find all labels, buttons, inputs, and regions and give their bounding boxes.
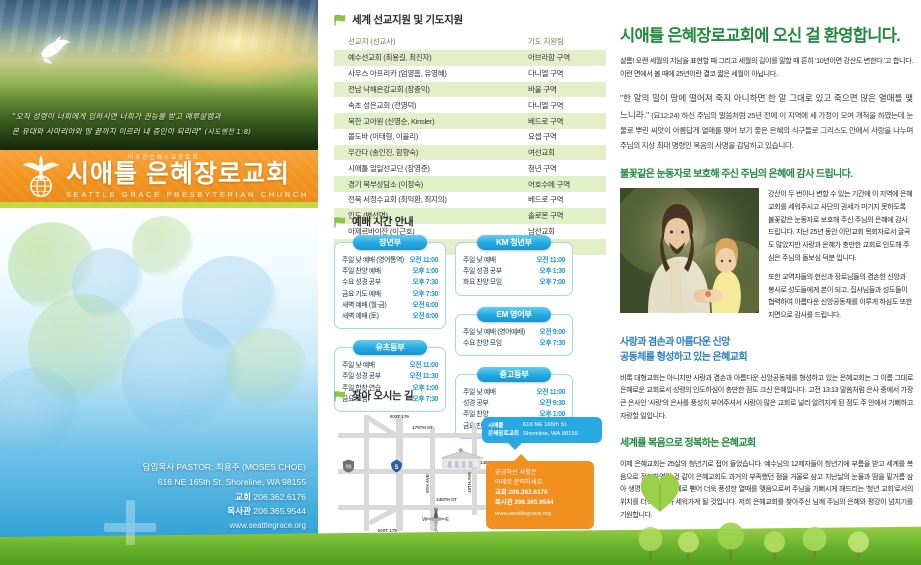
- worship-time: 오후 7:30: [412, 277, 438, 288]
- table-row: 전북 서정수교회 (최익환, 최지의)베드로 구역: [334, 192, 606, 208]
- worship-label: 화요 찬양 모임: [463, 277, 502, 288]
- church-building-icon: [438, 447, 486, 471]
- verse-line-2: 온 유대와 사마리아와 땅 끝까지 이르러 내 증인이 되리라" (사도행전 1…: [12, 125, 306, 140]
- worship-group-badge: KM 청년부: [477, 235, 551, 250]
- interstate-5-shield-icon: 5: [390, 459, 403, 473]
- parsonage-phone-label: 목사관: [227, 506, 251, 516]
- callout-church-name: 시애틀 은혜장로교회: [488, 422, 519, 438]
- tree-icon: [762, 529, 788, 561]
- worship-label: 금요 기도 예배: [342, 289, 381, 300]
- church-phone-line: 교회 206.362.6176: [56, 490, 306, 505]
- flag-icon: [334, 14, 347, 26]
- worship-time: 오후 1:00: [412, 266, 438, 277]
- map-section: 찾아 오시는 길 EXIT 176 175TH ST 148TH ST 145T…: [334, 388, 610, 541]
- worship-time: 오전 6:00: [412, 300, 438, 311]
- worship-row: 화요 찬양 모임오후 7:00: [463, 277, 565, 288]
- mission-field-cell: 몰도바 (이태형, 이율리): [334, 129, 520, 145]
- mission-field-cell: 예수선교회 (최용길, 최진자): [334, 50, 520, 66]
- worship-label: 수요 찬양 모임: [463, 338, 502, 349]
- worship-row: 주일 성경 공부오전 11:30: [342, 371, 438, 382]
- church-address-callout: 시애틀 은혜장로교회 616 NE 165th St. Shoreline, W…: [482, 417, 602, 443]
- worship-group-badge: EM 영어부: [477, 307, 551, 322]
- table-row: 전남 낙해은강교회 (장충익)바울 구역: [334, 82, 606, 98]
- lime-divider: [0, 202, 318, 208]
- church-phone-value: 206.362.6176: [253, 492, 306, 502]
- worship-time: 오후 7:30: [539, 338, 565, 349]
- worship-heading: 예배 시간 안내: [334, 214, 606, 229]
- paragraph-1: 강산이 두 번이나 변할 수 있는 기간에 이 지역에 은혜 교회를 세워주시고…: [768, 188, 913, 264]
- worship-row: 새벽 예배 (토)오전 8:00: [342, 311, 438, 322]
- road-i5-left: [364, 415, 369, 531]
- map-label-5th-ave: 5TH AVE: [426, 474, 431, 493]
- inquiry-line-1: 궁금하신 사항은: [495, 468, 585, 478]
- mission-field-cell: 전북 서정수교회 (최익환, 최지의): [334, 192, 520, 208]
- paragraph-2: 또한 교역자들의 헌신과 장로님들의 겸손한 신앙과 봉사로 성도들에게 본이 …: [768, 271, 913, 322]
- mission-prayer-cell: 청년 구역: [520, 160, 606, 176]
- worship-row: 주일 낮 예배오전 11:00: [342, 360, 438, 371]
- mission-prayer-cell: 아브라함 구역: [520, 50, 606, 66]
- worship-label: 새벽 예배 (월-금): [342, 300, 386, 311]
- worship-row: 새벽 예배 (월-금)오전 6:00: [342, 300, 438, 311]
- worship-row: 주일 성경 공부오후 1:30: [463, 266, 565, 277]
- website-line[interactable]: www.seattlegrace.org: [56, 519, 306, 533]
- mission-prayer-cell: 어호수에 구역: [520, 176, 606, 192]
- worship-label: 주일 낮 예배: [463, 255, 496, 266]
- mission-prayer-cell: 다니엘 구역: [520, 66, 606, 82]
- worship-group-badge: 중고등부: [477, 367, 551, 382]
- worship-label: 주일 낮 예배 (영어예배): [463, 327, 525, 338]
- mission-prayer-cell: 여선교회: [520, 145, 606, 161]
- callout-address-line-1: 616 NE 165th St.: [523, 421, 578, 430]
- welcome-title: 시애틀 은혜장로교회에 오신 걸 환영합니다.: [620, 22, 913, 46]
- worship-time: 오후 1:30: [539, 266, 565, 277]
- worship-label: 주일 찬양 예배: [342, 266, 381, 277]
- callout-name-line-2: 은혜장로교회: [488, 430, 519, 438]
- jesus-photo-row: 강산이 두 번이나 변할 수 있는 기간에 이 지역에 은혜 교회를 세워주시고…: [620, 188, 913, 328]
- worship-time: 오전 8:00: [412, 311, 438, 322]
- mission-prayer-cell: 베드로 구역: [520, 192, 606, 208]
- mission-title: 세계 선교지원 및 기도지원: [352, 12, 463, 27]
- mission-field-cell: 속초 성은교회 (전영덕): [334, 97, 520, 113]
- map-pin-icon: [334, 390, 347, 402]
- mission-field-cell: 전남 낙해은강교회 (장충익): [334, 82, 520, 98]
- worship-group-body: 주일 낮 예배 (영어통역)오전 11:00주일 찬양 예배오후 1:00수요 …: [334, 242, 446, 329]
- tree-icon: [676, 529, 702, 561]
- svg-text:N: N: [434, 507, 438, 513]
- mission-prayer-cell: 요셉 구역: [520, 129, 606, 145]
- worship-row: 수요 성경 공부오후 7:30: [342, 277, 438, 288]
- worship-time: 오후 7:00: [539, 277, 565, 288]
- tree-icon: [714, 521, 748, 561]
- church-phone-label: 교회: [235, 492, 251, 502]
- worship-time: 오전 11:00: [409, 255, 438, 266]
- jesus-with-child-photo: [620, 188, 759, 313]
- welcome-intro: 샬롬! 오랜 세월의 지남을 표현할 때 그리고 세월의 길이를 말할 때 흔히…: [620, 55, 913, 80]
- map-label-175th: 175TH ST: [412, 426, 433, 431]
- tree-icon: [846, 529, 872, 561]
- mission-field-cell: 북한 고아원 (신영순, Kinsler): [334, 113, 520, 129]
- worship-group-badge: 유초등부: [353, 340, 427, 355]
- worship-time: 오후 7:30: [412, 289, 438, 300]
- table-row: 속초 성은교회 (전영덕)다니엘 구역: [334, 97, 606, 113]
- table-row: 경기 북부상담소 (이정숙)어호수에 구역: [334, 176, 606, 192]
- worship-row: 주일 낮 예배 (영어예배)오전 9:00: [463, 327, 565, 338]
- denomination-label: 미주한인예수교장로회: [128, 153, 309, 161]
- table-row: 시애틀 일일선교단 (장영준)청년 구역: [334, 160, 606, 176]
- mission-field-cell: 경기 북부상담소 (이정숙): [334, 176, 520, 192]
- inquiry-parsonage-phone: 목사관 206.365.9544: [495, 498, 585, 508]
- worship-row: 주일 낮 예배오전 11:00: [463, 255, 565, 266]
- mission-table-header: 선교지 (선교사) 기도 지원팀: [334, 33, 606, 50]
- svg-text:5: 5: [395, 464, 399, 471]
- map-label-15th-ave: 15TH AVE: [468, 472, 473, 493]
- road-175th: [338, 433, 504, 438]
- center-panel: 세계 선교지원 및 기도지원 선교지 (선교사) 기도 지원팀 예수선교회 (최…: [330, 0, 610, 545]
- callout-address-line-2: Shoreline, WA 98155: [523, 430, 578, 439]
- clock-icon: [334, 216, 347, 228]
- map-heading: 찾아 오시는 길: [334, 388, 610, 403]
- parsonage-phone-value: 206.365.9544: [253, 506, 306, 516]
- right-panel: 시애틀 은혜장로교회에 오신 걸 환영합니다. 샬롬! 오랜 세월의 지남을 표…: [612, 0, 921, 545]
- worship-label: 수요 성경 공부: [342, 277, 381, 288]
- heart-leaf-icon: [634, 467, 686, 515]
- worship-group: 장년부주일 낮 예배 (영어통역)오전 11:00주일 찬양 예배오후 1:00…: [334, 235, 446, 329]
- church-name-korean: 시애틀 은혜장로교회: [66, 162, 309, 187]
- jesus-illustration: [620, 188, 759, 313]
- worship-row: 수요 찬양 모임오후 7:30: [463, 338, 565, 349]
- subtitle-2-line-2: 공동체를 형성하고 있는 은혜교회: [620, 348, 913, 363]
- mission-prayer-cell: 다니엘 구역: [520, 97, 606, 113]
- dove-icon: [36, 30, 76, 72]
- logo-text-block: 미주한인예수교장로회 시애틀 은혜장로교회 SEATTLE GRACE PRES…: [66, 153, 309, 199]
- church-crest-icon: [18, 153, 64, 199]
- table-row: 예수선교회 (최용길, 최진자)아브라함 구역: [334, 50, 606, 66]
- worship-time: 오전 9:00: [539, 327, 565, 338]
- map-title: 찾아 오시는 길: [352, 388, 413, 403]
- worship-group: EM 영어부주일 낮 예배 (영어예배)오전 9:00수요 찬양 모임오후 7:…: [455, 307, 573, 356]
- worship-row: 주일 찬양 예배오후 1:00: [342, 266, 438, 277]
- brochure-page: "오직 성령이 너희에게 임하시면 너희가 권능을 받고 예루살렘과 온 유대와…: [0, 0, 921, 565]
- table-row: 몰도바 (이태형, 이율리)요셉 구역: [334, 129, 606, 145]
- subtitle-2-line-1: 사랑과 겸손과 아름다운 신앙: [620, 333, 913, 348]
- church-name-english: SEATTLE GRACE PRESBYTERIAN CHURCH: [66, 190, 309, 199]
- table-row: 우간다 (송인진, 함향숙)여선교회: [334, 145, 606, 161]
- worship-row: 주일 낮 예배 (영어통역)오전 11:00: [342, 255, 438, 266]
- map-label-145th: 145TH ST: [436, 498, 457, 503]
- worship-label: 주일 성경 공부: [463, 266, 502, 277]
- paragraph-3: 비록 대형교회는 아니지만 사랑과 겸손과 아름다운 신앙공동체를 형성하고 있…: [620, 372, 913, 423]
- tree-icon: [636, 525, 666, 561]
- route-99-shield-icon: 99: [342, 459, 355, 473]
- inquiry-info-box: 궁금하신 사항은 아래로 문의하세요. 교회 206.362.6176 목사관 …: [486, 461, 594, 529]
- mission-col-field: 선교지 (선교사): [334, 33, 520, 50]
- mission-heading: 세계 선교지원 및 기도지원: [334, 12, 606, 27]
- worship-group-body: 주일 낮 예배오전 11:00주일 성경 공부오후 1:30화요 찬양 모임오후…: [455, 242, 573, 296]
- map-label-exit-176: EXIT 176: [390, 415, 409, 420]
- svg-text:99: 99: [345, 465, 351, 471]
- quote-reference: (요12:24): [651, 111, 679, 120]
- worship-time: 오전 11:30: [409, 371, 438, 382]
- mission-field-cell: 우간다 (송인진, 함향숙): [334, 145, 520, 161]
- table-row: 사우스 아프리카 (엄영흠, 유영혜)다니엘 구역: [334, 66, 606, 82]
- worship-label: 주일 낮 예배 (영어통역): [342, 255, 404, 266]
- parsonage-phone-line: 목사관 206.365.9544: [56, 504, 306, 519]
- worship-group: KM 청년부주일 낮 예배오전 11:00주일 성경 공부오후 1:30화요 찬…: [455, 235, 573, 296]
- pastor-line: 담임목사 PASTOR: 최용주 (MOSES CHOE): [56, 460, 306, 475]
- worship-time: 오전 11:00: [409, 360, 438, 371]
- section-subtitle-1: 불꽃같은 눈동자로 보호해 주신 주님의 은혜에 감사 드립니다.: [620, 165, 913, 180]
- callout-name-line-1: 시애틀: [488, 422, 519, 430]
- verse-reference: (사도행전 1:8): [205, 128, 252, 136]
- worship-row: 금요 기도 예배오후 7:30: [342, 289, 438, 300]
- worship-title: 예배 시간 안내: [352, 214, 413, 229]
- church-logo-band: 미주한인예수교장로회 시애틀 은혜장로교회 SEATTLE GRACE PRES…: [0, 150, 318, 202]
- welcome-side-text: 강산이 두 번이나 변할 수 있는 기간에 이 지역에 은혜 교회를 세워주시고…: [768, 188, 913, 328]
- tree-icon: [800, 525, 830, 561]
- worship-time: 오전 11:00: [536, 255, 565, 266]
- mission-col-prayer: 기도 지원팀: [520, 33, 606, 50]
- table-row: 북한 고아원 (신영순, Kinsler)베드로 구역: [334, 113, 606, 129]
- worship-label: 주일 성경 공부: [342, 371, 381, 382]
- bible-verse: "오직 성령이 너희에게 임하시면 너희가 권능을 받고 예루살렘과 온 유대와…: [0, 98, 318, 152]
- mission-field-cell: 사우스 아프리카 (엄영흠, 유영혜): [334, 66, 520, 82]
- mission-prayer-cell: 바울 구역: [520, 82, 606, 98]
- worship-label: 새벽 예배 (토): [342, 311, 379, 322]
- scripture-quote: "한 알의 밀이 땅에 떨어져 죽지 아니하면 한 알 그대로 있고 죽으면 많…: [620, 90, 913, 153]
- left-panel: "오직 성령이 너희에게 임하시면 너희가 권능을 받고 예루살렘과 온 유대와…: [0, 0, 318, 545]
- worship-group-badge: 장년부: [353, 235, 427, 250]
- callout-address: 616 NE 165th St. Shoreline, WA 98155: [523, 421, 578, 438]
- section-subtitle-3: 세계를 복음으로 정복하는 은혜교회: [620, 434, 913, 449]
- inquiry-line-2: 아래로 문의하세요.: [495, 478, 585, 488]
- worship-label: 주일 낮 예배: [342, 360, 375, 371]
- mission-prayer-cell: 베드로 구역: [520, 113, 606, 129]
- inquiry-website[interactable]: www.seattlegrace.org: [495, 510, 585, 519]
- verse-line-1: "오직 성령이 너희에게 임하시면 너희가 권능을 받고 예루살렘과: [12, 110, 306, 125]
- inquiry-church-phone: 교회 206.362.6176: [495, 488, 585, 498]
- contact-block: 담임목사 PASTOR: 최용주 (MOSES CHOE) 616 NE 165…: [56, 460, 306, 533]
- mission-field-cell: 시애틀 일일선교단 (장영준): [334, 160, 520, 176]
- address-line: 616 NE 165th St. Shoreline, WA 98155: [56, 475, 306, 490]
- section-subtitle-2: 사랑과 겸손과 아름다운 신앙 공동체를 형성하고 있는 은혜교회: [620, 333, 913, 363]
